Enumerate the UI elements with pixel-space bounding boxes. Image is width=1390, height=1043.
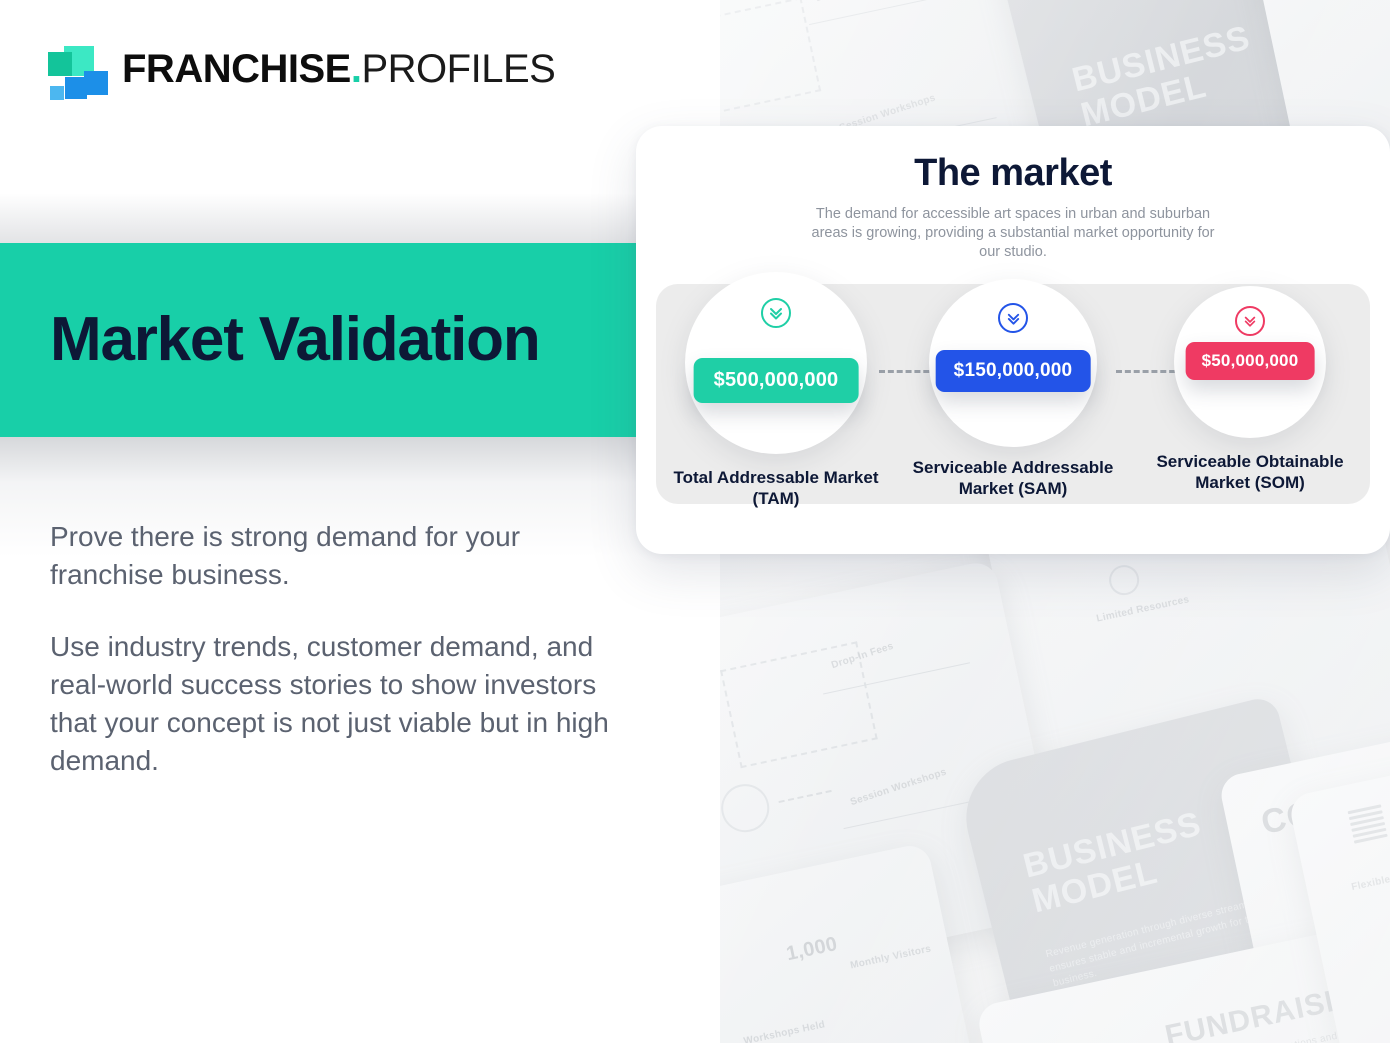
market-segment-tam[interactable]: $500,000,000 Total Addressable Market (T… bbox=[658, 272, 894, 532]
slide-root: Drop-In Fees Session Workshops Commissio… bbox=[0, 0, 1390, 1043]
bg-label: Limited Resources bbox=[1096, 591, 1206, 625]
bg-label: Workshops Held bbox=[743, 1019, 826, 1043]
hero-banner: Market Validation bbox=[0, 243, 636, 437]
brand-logo[interactable]: FRANCHISE.PROFILES bbox=[48, 44, 555, 94]
brand-name-light: PROFILES bbox=[361, 47, 555, 91]
card-title: The market bbox=[636, 152, 1390, 195]
segment-value-badge: $50,000,000 bbox=[1186, 342, 1315, 380]
brand-wordmark: FRANCHISE.PROFILES bbox=[122, 49, 555, 89]
segment-value-badge: $150,000,000 bbox=[936, 350, 1091, 392]
market-funnel-diagram: $500,000,000 Total Addressable Market (T… bbox=[636, 272, 1390, 532]
bg-label: Drop-In Fees bbox=[814, 0, 879, 4]
body-copy: Prove there is strong demand for your fr… bbox=[50, 518, 610, 780]
segment-label: Total Addressable Market (TAM) bbox=[661, 468, 891, 509]
page-title: Market Validation bbox=[50, 309, 540, 371]
segment-value-badge: $500,000,000 bbox=[694, 358, 859, 403]
double-chevron-down-icon bbox=[761, 298, 791, 328]
body-paragraph-2: Use industry trends, customer demand, an… bbox=[50, 628, 610, 780]
bg-label: Session Workshops bbox=[849, 767, 948, 809]
segment-label: Serviceable Obtainable Market (SOM) bbox=[1135, 452, 1365, 493]
brand-dot: . bbox=[351, 47, 362, 91]
bg-label: Flexible Pricing bbox=[1350, 866, 1390, 893]
segment-label: Serviceable Addressable Market (SAM) bbox=[898, 458, 1128, 499]
card-subtitle: The demand for accessible art spaces in … bbox=[803, 205, 1223, 262]
left-panel: FRANCHISE.PROFILES Market Validation Pro… bbox=[0, 0, 720, 1043]
brand-name-bold: FRANCHISE bbox=[122, 47, 351, 91]
body-paragraph-1: Prove there is strong demand for your fr… bbox=[50, 518, 610, 594]
double-chevron-down-icon bbox=[998, 303, 1028, 333]
market-segment-som[interactable]: $50,000,000 Serviceable Obtainable Marke… bbox=[1132, 272, 1368, 532]
bg-label: Monthly Visitors bbox=[849, 943, 932, 971]
double-chevron-down-icon bbox=[1235, 306, 1265, 336]
banner-shadow-top bbox=[0, 193, 660, 245]
squares-logo-icon bbox=[48, 44, 110, 94]
market-card: The market The demand for accessible art… bbox=[636, 126, 1390, 554]
market-segment-sam[interactable]: $150,000,000 Serviceable Addressable Mar… bbox=[895, 272, 1131, 532]
bg-metric-value: 1,000 bbox=[784, 933, 839, 966]
